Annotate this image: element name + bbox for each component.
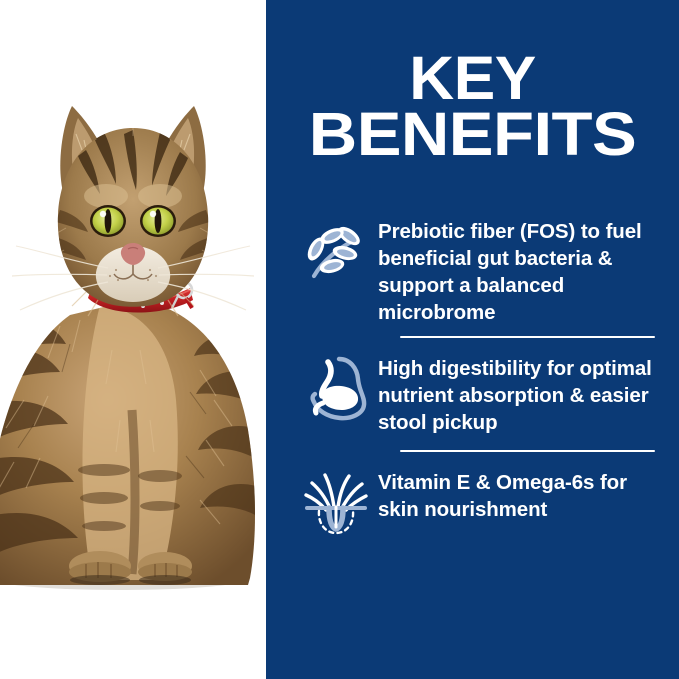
benefit-divider-2 — [400, 450, 655, 452]
stomach-icon — [300, 352, 372, 424]
benefit-item-skin-nourishment: Vitamin E & Omega-6s for skin nourishmen… — [266, 458, 679, 558]
page-title: KEY BENEFITS — [266, 50, 679, 162]
benefits-list: Prebiotic fiber (FOS) to fuel beneficial… — [266, 207, 679, 558]
benefit-item-digestibility: High digestibility for optimal nutrient … — [266, 344, 679, 444]
benefit-text-prebiotic-fiber: Prebiotic fiber (FOS) to fuel beneficial… — [372, 207, 655, 326]
hair-follicle-skin-icon — [300, 466, 372, 538]
wheat-grain-icon — [300, 215, 372, 287]
cat-photo-panel — [0, 0, 266, 679]
title-line-1: KEY — [262, 50, 679, 106]
benefit-text-skin-nourishment: Vitamin E & Omega-6s for skin nourishmen… — [372, 458, 655, 524]
benefits-panel: KEY BENEFITS — [266, 0, 679, 679]
title-line-2: BENEFITS — [245, 106, 679, 162]
benefit-divider-1 — [400, 336, 655, 338]
key-benefits-poster: KEY BENEFITS — [0, 0, 679, 679]
cat-photo — [0, 0, 266, 679]
benefit-item-prebiotic-fiber: Prebiotic fiber (FOS) to fuel beneficial… — [266, 207, 679, 330]
benefit-text-digestibility: High digestibility for optimal nutrient … — [372, 344, 655, 437]
